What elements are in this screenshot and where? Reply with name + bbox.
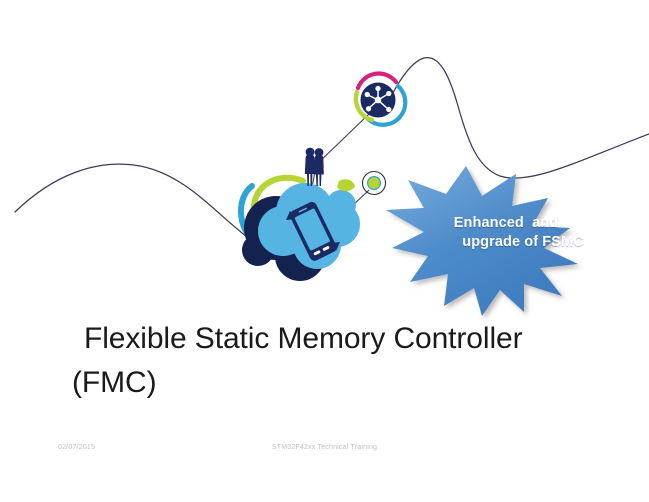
- callout-text: Enhanced andupgrade of FSMC: [378, 214, 634, 252]
- cloud-shape: [258, 183, 360, 269]
- connector-line-greendot: [330, 190, 369, 227]
- leaf-accent: [337, 179, 355, 191]
- people-pair-icon: [305, 148, 324, 186]
- slide-canvas: Enhanced andupgrade of FSMC Flexible Sta…: [0, 0, 649, 502]
- callout-badge: Enhanced andupgrade of FSMC: [378, 162, 634, 312]
- arc-lime: [254, 178, 303, 206]
- arc-teal: [241, 186, 254, 241]
- title-line-1: Flexible Static Memory Controller: [72, 317, 592, 361]
- smartphone-icon: [288, 200, 338, 262]
- page-title: Flexible Static Memory Controller(FMC): [72, 317, 592, 405]
- callout-line-1: Enhanced and: [454, 215, 558, 231]
- connector-line-badge: [309, 114, 369, 206]
- swoosh-curve-left: [15, 164, 300, 265]
- title-line-2: (FMC): [72, 361, 592, 405]
- swoosh-curve-right: [382, 58, 649, 179]
- network-node-badge: [356, 74, 405, 125]
- callout-line-2: upgrade of FSMC: [378, 233, 634, 252]
- sync-arrows: [286, 210, 340, 252]
- footer-center-text: STM32F42xx Technical Training: [0, 444, 649, 451]
- cloud-shadow-blobs: [242, 196, 325, 281]
